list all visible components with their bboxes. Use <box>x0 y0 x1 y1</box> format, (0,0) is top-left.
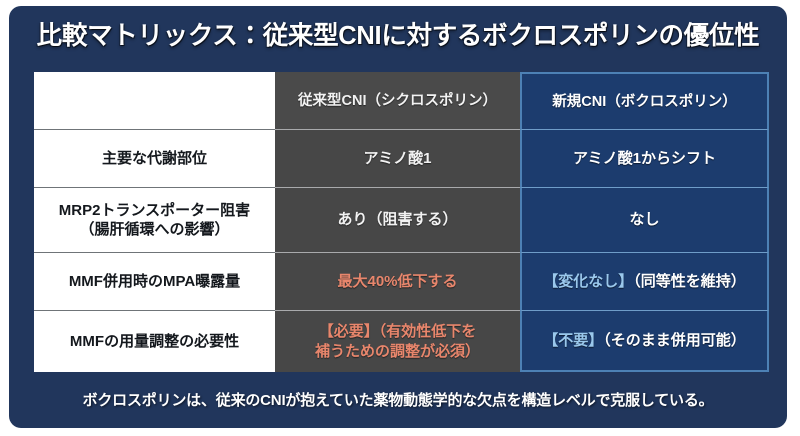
row-label-mrp2-line2: （腸肝循環への影響） <box>79 221 229 238</box>
table-row: MRP2トランスポーター阻害 （腸肝循環への影響） あり（阻害する） なし <box>34 188 769 253</box>
header-new-label: 新規CNI（ボクロスポリン） <box>552 94 736 110</box>
row-new-mpa-exposure: 【変化なし】（同等性を維持） <box>520 253 769 311</box>
table-row: 主要な代謝部位 アミノ酸1 アミノ酸1からシフト <box>34 130 769 188</box>
row-legacy-metabolism: アミノ酸1 <box>275 130 520 188</box>
row-new-dose-adjust: 【不要】（そのまま併用可能） <box>520 311 769 372</box>
new-mpa-highlight: 【変化なし】 <box>543 273 633 290</box>
header-cell-legacy-cni: 従来型CNI（シクロスポリン） <box>275 72 520 130</box>
new-mpa-rest: （同等性を維持） <box>633 273 746 290</box>
legacy-dose-rest-line1: （有効性低下を <box>379 323 477 340</box>
table-row: MMF併用時のMPA曝露量 最大40%低下する 【変化なし】（同等性を維持） <box>34 253 769 311</box>
row-label-dose-adjust: MMFの用量調整の必要性 <box>34 311 275 372</box>
header-cell-new-cni: 新規CNI（ボクロスポリン） <box>520 72 769 130</box>
new-dose-rest: （そのまま併用可能） <box>603 332 746 349</box>
table-header-row: 従来型CNI（シクロスポリン） 新規CNI（ボクロスポリン） <box>34 72 769 130</box>
row-new-metabolism: アミノ酸1からシフト <box>520 130 769 188</box>
table-row: MMFの用量調整の必要性 【必要】（有効性低下を 補うための調整が必須） 【不要… <box>34 311 769 372</box>
row-label-mrp2-line1: MRP2トランスポーター阻害 <box>59 202 250 219</box>
new-dose-highlight: 【不要】 <box>543 332 603 349</box>
legacy-dose-rest-line2: 補うための調整が必須） <box>315 343 480 360</box>
row-new-mrp2: なし <box>520 188 769 253</box>
header-legacy-label: 従来型CNI（シクロスポリン） <box>298 93 497 109</box>
row-legacy-mrp2: あり（阻害する） <box>275 188 520 253</box>
row-legacy-mpa-exposure: 最大40%低下する <box>275 253 520 311</box>
row-label-mpa-exposure: MMF併用時のMPA曝露量 <box>34 253 275 311</box>
row-label-mrp2: MRP2トランスポーター阻害 （腸肝循環への影響） <box>34 188 275 253</box>
summary-footer: ボクロスポリンは、従来のCNIが抱えていた薬物動態学的な欠点を構造レベルで克服し… <box>9 392 787 410</box>
slide-root: 比較マトリックス：従来型CNIに対するボクロスポリンの優位性 従来型CNI（シク… <box>0 0 800 436</box>
slide-frame: 比較マトリックス：従来型CNIに対するボクロスポリンの優位性 従来型CNI（シク… <box>9 6 787 428</box>
legacy-mpa-warning-text: 最大40%低下する <box>337 273 457 290</box>
header-cell-empty <box>34 72 275 130</box>
page-title: 比較マトリックス：従来型CNIに対するボクロスポリンの優位性 <box>9 22 787 50</box>
row-legacy-dose-adjust: 【必要】（有効性低下を 補うための調整が必須） <box>275 311 520 372</box>
legacy-dose-highlight: 【必要】 <box>319 323 379 340</box>
comparison-matrix: 従来型CNI（シクロスポリン） 新規CNI（ボクロスポリン） 主要な代謝部位 ア… <box>34 72 769 372</box>
row-label-metabolism: 主要な代謝部位 <box>34 130 275 188</box>
